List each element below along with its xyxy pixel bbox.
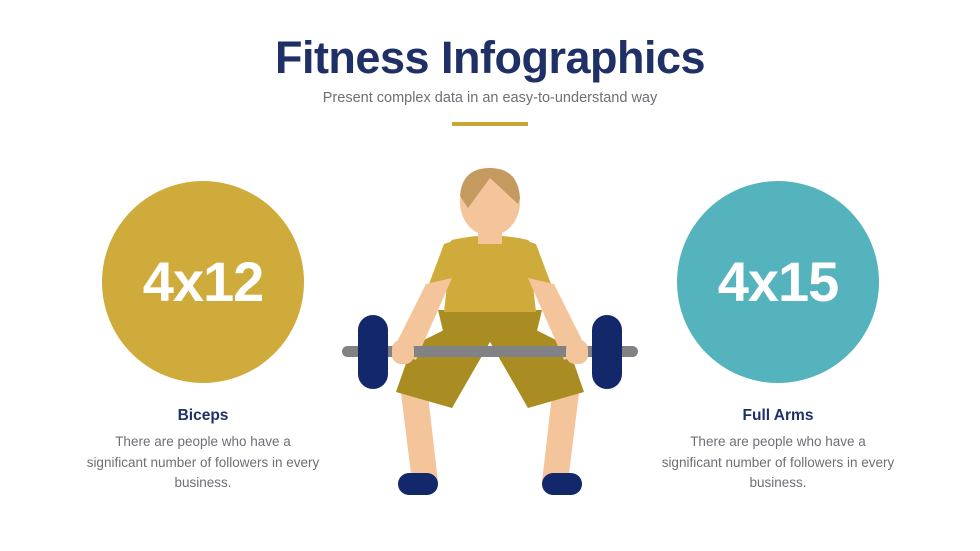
stat-description-biceps: There are people who have a significant …: [86, 432, 321, 495]
page-title: Fitness Infographics: [0, 34, 980, 81]
barbell-plate-left: [358, 315, 388, 389]
stat-value-full-arms: 4x15: [718, 254, 839, 310]
stat-value-biceps: 4x12: [143, 254, 264, 310]
barbell-plate-right: [592, 315, 622, 389]
stat-circle-biceps: 4x12: [102, 181, 304, 383]
stat-heading-full-arms: Full Arms: [628, 407, 928, 426]
weightlifter-illustration: [340, 160, 640, 505]
accent-divider: [452, 122, 528, 126]
stat-block-full-arms: 4x15 Full Arms There are people who have…: [628, 181, 928, 494]
stat-circle-full-arms: 4x15: [677, 181, 879, 383]
page-subtitle: Present complex data in an easy-to-under…: [0, 90, 980, 107]
stat-description-full-arms: There are people who have a significant …: [661, 432, 896, 495]
right-hand: [566, 340, 588, 364]
stat-heading-biceps: Biceps: [53, 407, 353, 426]
header: Fitness Infographics Present complex dat…: [0, 34, 980, 126]
shirt-torso: [444, 236, 536, 312]
right-shoe: [542, 473, 582, 495]
stat-block-biceps: 4x12 Biceps There are people who have a …: [53, 181, 353, 494]
left-hand: [392, 340, 414, 364]
waistband: [438, 310, 542, 335]
left-shoe: [398, 473, 438, 495]
slide-canvas: Fitness Infographics Present complex dat…: [0, 0, 980, 551]
